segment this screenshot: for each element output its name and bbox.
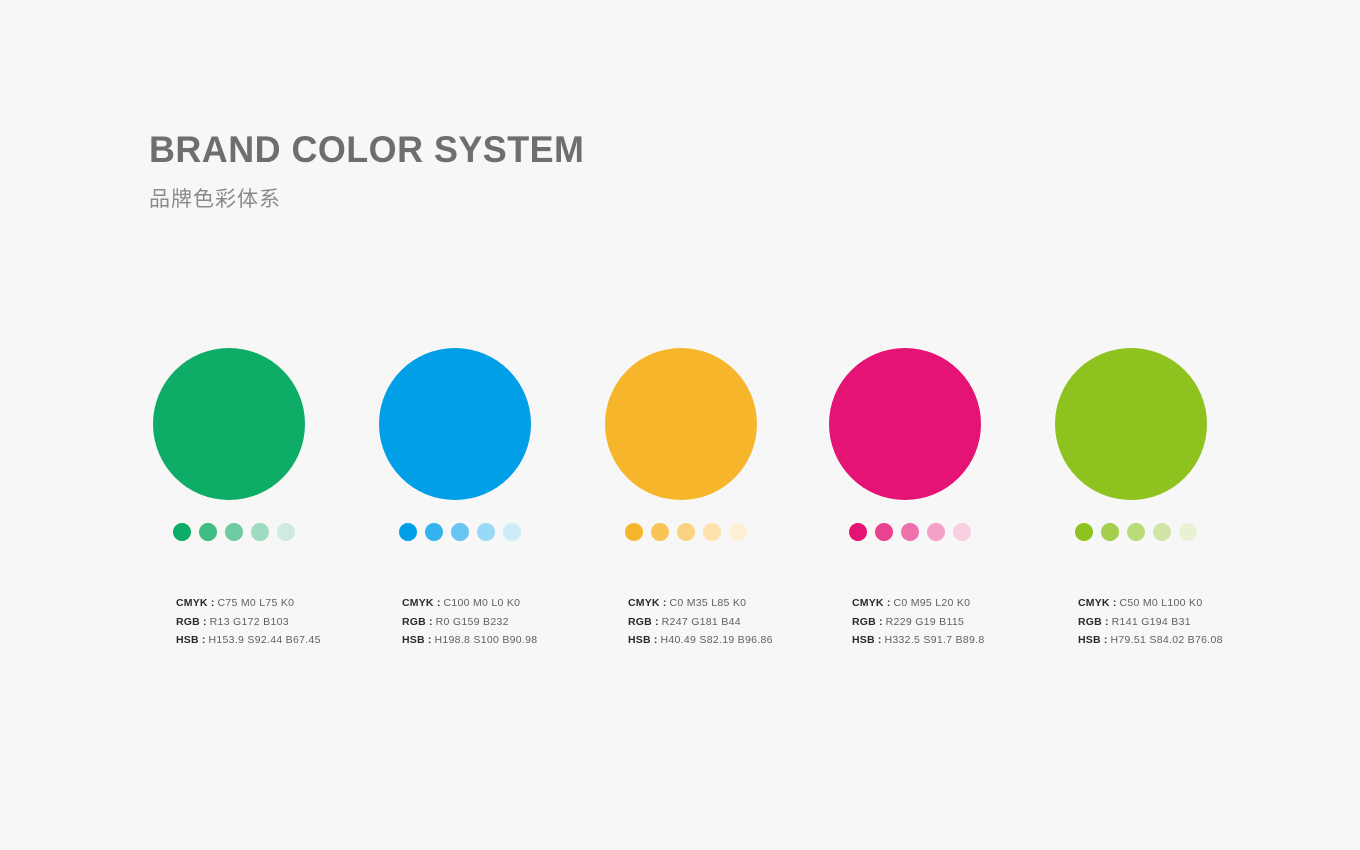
hsb-value: H198.8 S100 B90.98	[435, 634, 538, 646]
main-color-circle	[605, 348, 757, 500]
cmyk-label: CMYK :	[852, 597, 891, 609]
main-color-circle	[829, 348, 981, 500]
hsb-value: H79.51 S84.02 B76.08	[1111, 634, 1223, 646]
tint-dot	[625, 523, 643, 541]
tint-dot	[173, 523, 191, 541]
tint-dot	[1153, 523, 1171, 541]
rgb-label: RGB :	[1078, 616, 1109, 628]
tint-dot	[703, 523, 721, 541]
color-swatch-column: CMYK : C50 M0 L100 K0 RGB : R141 G194 B3…	[1055, 348, 1280, 650]
color-swatch-column: CMYK : C0 M35 L85 K0 RGB : R247 G181 B44…	[605, 348, 830, 650]
tint-dot	[425, 523, 443, 541]
hsb-row: HSB : H79.51 S84.02 B76.08	[1078, 631, 1280, 650]
tint-dot	[677, 523, 695, 541]
cmyk-value: C0 M95 L20 K0	[893, 597, 970, 609]
hsb-row: HSB : H332.5 S91.7 B89.8	[852, 631, 1054, 650]
rgb-label: RGB :	[852, 616, 883, 628]
rgb-value: R229 G19 B115	[886, 616, 964, 628]
page-title: BRAND COLOR SYSTEM	[149, 128, 584, 172]
tint-scale-row	[173, 522, 378, 542]
tint-dot	[225, 523, 243, 541]
cmyk-row: CMYK : C75 M0 L75 K0	[176, 594, 378, 613]
cmyk-value: C50 M0 L100 K0	[1119, 597, 1202, 609]
cmyk-row: CMYK : C0 M95 L20 K0	[852, 594, 1054, 613]
tint-scale-row	[625, 522, 830, 542]
color-spec-block: CMYK : C50 M0 L100 K0 RGB : R141 G194 B3…	[1078, 594, 1280, 650]
cmyk-row: CMYK : C100 M0 L0 K0	[402, 594, 604, 613]
brand-color-system-page: BRAND COLOR SYSTEM 品牌色彩体系 CMYK : C75 M0 …	[0, 0, 1360, 850]
tint-dot	[251, 523, 269, 541]
header: BRAND COLOR SYSTEM 品牌色彩体系	[149, 128, 598, 214]
rgb-label: RGB :	[402, 616, 433, 628]
cmyk-value: C0 M35 L85 K0	[669, 597, 746, 609]
hsb-label: HSB :	[1078, 634, 1108, 646]
rgb-row: RGB : R229 G19 B115	[852, 613, 1054, 632]
main-color-circle	[153, 348, 305, 500]
cmyk-label: CMYK :	[1078, 597, 1117, 609]
rgb-row: RGB : R247 G181 B44	[628, 613, 830, 632]
tint-scale-row	[849, 522, 1054, 542]
tint-dot	[503, 523, 521, 541]
tint-dot	[1075, 523, 1093, 541]
color-spec-block: CMYK : C100 M0 L0 K0 RGB : R0 G159 B232 …	[402, 594, 604, 650]
hsb-label: HSB :	[176, 634, 206, 646]
color-spec-block: CMYK : C0 M95 L20 K0 RGB : R229 G19 B115…	[852, 594, 1054, 650]
tint-dot	[729, 523, 747, 541]
rgb-row: RGB : R0 G159 B232	[402, 613, 604, 632]
hsb-label: HSB :	[628, 634, 658, 646]
rgb-value: R0 G159 B232	[436, 616, 509, 628]
cmyk-value: C75 M0 L75 K0	[217, 597, 294, 609]
hsb-label: HSB :	[402, 634, 432, 646]
color-swatch-column: CMYK : C100 M0 L0 K0 RGB : R0 G159 B232 …	[379, 348, 604, 650]
rgb-value: R13 G172 B103	[210, 616, 289, 628]
cmyk-label: CMYK :	[176, 597, 215, 609]
hsb-value: H40.49 S82.19 B96.86	[661, 634, 773, 646]
rgb-row: RGB : R141 G194 B31	[1078, 613, 1280, 632]
hsb-row: HSB : H40.49 S82.19 B96.86	[628, 631, 830, 650]
tint-scale-row	[399, 522, 604, 542]
tint-scale-row	[1075, 522, 1280, 542]
cmyk-row: CMYK : C50 M0 L100 K0	[1078, 594, 1280, 613]
rgb-label: RGB :	[628, 616, 659, 628]
tint-dot	[1127, 523, 1145, 541]
tint-dot	[199, 523, 217, 541]
color-spec-block: CMYK : C0 M35 L85 K0 RGB : R247 G181 B44…	[628, 594, 830, 650]
color-swatch-column: CMYK : C75 M0 L75 K0 RGB : R13 G172 B103…	[153, 348, 378, 650]
tint-dot	[1101, 523, 1119, 541]
tint-dot	[277, 523, 295, 541]
color-swatch-column: CMYK : C0 M95 L20 K0 RGB : R229 G19 B115…	[829, 348, 1054, 650]
rgb-label: RGB :	[176, 616, 207, 628]
tint-dot	[953, 523, 971, 541]
tint-dot	[875, 523, 893, 541]
page-subtitle: 品牌色彩体系	[149, 184, 598, 214]
tint-dot	[451, 523, 469, 541]
main-color-circle	[1055, 348, 1207, 500]
tint-dot	[927, 523, 945, 541]
tint-dot	[901, 523, 919, 541]
cmyk-label: CMYK :	[628, 597, 667, 609]
main-color-circle	[379, 348, 531, 500]
tint-dot	[399, 523, 417, 541]
hsb-value: H153.9 S92.44 B67.45	[209, 634, 321, 646]
color-swatch-grid: CMYK : C75 M0 L75 K0 RGB : R13 G172 B103…	[153, 348, 1213, 688]
rgb-row: RGB : R13 G172 B103	[176, 613, 378, 632]
cmyk-value: C100 M0 L0 K0	[443, 597, 520, 609]
cmyk-label: CMYK :	[402, 597, 441, 609]
cmyk-row: CMYK : C0 M35 L85 K0	[628, 594, 830, 613]
hsb-value: H332.5 S91.7 B89.8	[885, 634, 985, 646]
hsb-row: HSB : H153.9 S92.44 B67.45	[176, 631, 378, 650]
tint-dot	[849, 523, 867, 541]
tint-dot	[477, 523, 495, 541]
rgb-value: R141 G194 B31	[1112, 616, 1191, 628]
color-spec-block: CMYK : C75 M0 L75 K0 RGB : R13 G172 B103…	[176, 594, 378, 650]
tint-dot	[1179, 523, 1197, 541]
hsb-label: HSB :	[852, 634, 882, 646]
tint-dot	[651, 523, 669, 541]
rgb-value: R247 G181 B44	[662, 616, 741, 628]
hsb-row: HSB : H198.8 S100 B90.98	[402, 631, 604, 650]
